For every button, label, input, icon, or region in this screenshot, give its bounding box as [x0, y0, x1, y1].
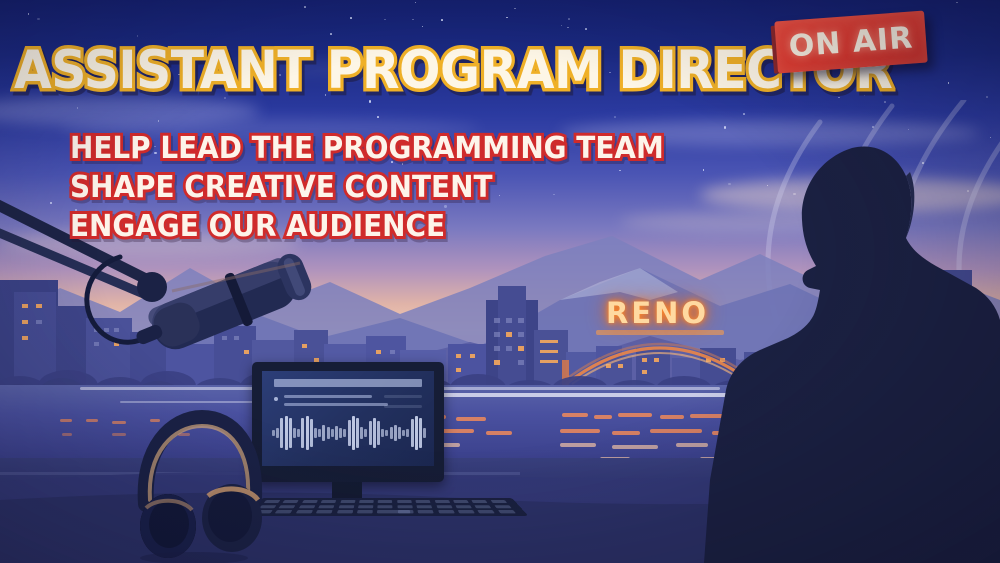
waveform-bar: [411, 419, 414, 447]
waveform-bar: [297, 429, 300, 437]
waveform-bar: [289, 418, 292, 448]
keyboard-key[interactable]: [436, 505, 452, 508]
headphones: [128, 400, 268, 563]
track-row[interactable]: [284, 403, 388, 406]
star: [585, 28, 587, 30]
star: [330, 33, 332, 35]
waveform-bar: [314, 428, 317, 438]
star: [37, 18, 39, 20]
waveform-bar: [406, 429, 409, 437]
subtitle-line-2: SHAPE CREATIVE CONTENT: [70, 172, 664, 204]
waveform-bar: [377, 421, 380, 445]
keyboard-body[interactable]: [246, 498, 529, 516]
waveform-bar: [402, 430, 405, 436]
keyboard-key[interactable]: [358, 505, 373, 508]
waveform-bar: [285, 416, 288, 450]
keyboard-key[interactable]: [498, 510, 516, 513]
star: [377, 116, 379, 118]
waveform-bar: [348, 420, 351, 446]
keyboard[interactable]: [262, 492, 512, 534]
person-silhouette: [700, 120, 1000, 563]
keyboard-key[interactable]: [475, 505, 492, 508]
waveform-bar: [339, 428, 342, 438]
star: [441, 19, 443, 21]
star: [506, 17, 508, 19]
waveform-bar: [419, 418, 422, 448]
keyboard-key[interactable]: [378, 505, 393, 508]
keyboard-key[interactable]: [283, 500, 299, 503]
keyboard-key[interactable]: [357, 510, 373, 513]
waveform-bar: [306, 416, 309, 450]
star: [137, 35, 139, 37]
app-toolbar[interactable]: [274, 379, 422, 387]
keyboard-key[interactable]: [478, 510, 496, 513]
keyboard-key[interactable]: [398, 510, 414, 513]
waveform-bar: [280, 418, 283, 448]
star: [28, 13, 30, 15]
keyboard-key[interactable]: [455, 505, 471, 508]
record-indicator: [274, 397, 278, 401]
keyboard-key[interactable]: [359, 500, 374, 503]
keyboard-key[interactable]: [302, 500, 318, 503]
star: [304, 6, 306, 8]
star: [415, 2, 417, 4]
waveform-bar: [318, 429, 321, 437]
waveform-bar: [373, 418, 376, 448]
keyboard-key[interactable]: [417, 505, 433, 508]
keyboard-key[interactable]: [453, 500, 469, 503]
star: [948, 82, 950, 84]
waveform-bar: [423, 428, 426, 438]
keyboard-key[interactable]: [316, 510, 333, 513]
keyboard-key[interactable]: [299, 505, 316, 508]
keyboard-key[interactable]: [378, 500, 393, 503]
keyboard-key[interactable]: [490, 500, 507, 503]
keyboard-key[interactable]: [275, 510, 293, 513]
waveform-bar: [301, 418, 304, 448]
subtitle-line-3: ENGAGE OUR AUDIENCE: [70, 211, 664, 243]
star: [514, 8, 516, 10]
waveform-bar: [335, 426, 338, 440]
star: [561, 25, 563, 27]
keyboard-key[interactable]: [321, 500, 337, 503]
waveform-bar: [331, 429, 334, 437]
star: [956, 2, 958, 4]
keyboard-key[interactable]: [438, 510, 455, 513]
keyboard-key[interactable]: [458, 510, 475, 513]
waveform-bar: [398, 427, 401, 439]
waveform-bar: [385, 430, 388, 436]
keyboard-key[interactable]: [279, 505, 296, 508]
keyboard-key[interactable]: [416, 500, 431, 503]
keyboard-key[interactable]: [418, 510, 434, 513]
waveform-bar: [369, 421, 372, 445]
waveform-bar: [360, 427, 363, 439]
waveform-bar: [327, 427, 330, 439]
waveform-bar: [352, 416, 355, 450]
reno-sign-text: RENO: [606, 296, 709, 330]
monitor-screen[interactable]: [262, 371, 434, 466]
keyboard-key[interactable]: [494, 505, 511, 508]
star: [422, 26, 424, 28]
waveform-bar: [276, 428, 279, 438]
star: [350, 17, 352, 19]
waveform-bar: [364, 429, 367, 437]
keyboard-key[interactable]: [336, 510, 352, 513]
star: [986, 96, 988, 98]
keyboard-key[interactable]: [397, 500, 412, 503]
on-air-sign: ON AIR: [774, 11, 927, 74]
keyboard-key[interactable]: [472, 500, 488, 503]
star: [568, 18, 570, 20]
subtitle-list: HELP LEAD THE PROGRAMMING TEAM SHAPE CRE…: [70, 133, 708, 243]
waveform-bar: [310, 419, 313, 447]
keyboard-key[interactable]: [338, 505, 354, 508]
waveform-bar: [415, 416, 418, 450]
track-row[interactable]: [284, 395, 372, 398]
star: [567, 27, 569, 29]
monitor-bezel: [252, 362, 444, 482]
panel-row: [384, 395, 422, 398]
keyboard-key[interactable]: [296, 510, 313, 513]
waveform-bar: [356, 418, 359, 448]
keyboard-key[interactable]: [434, 500, 449, 503]
keyboard-key[interactable]: [319, 505, 335, 508]
page-title: ASSISTANT PROGRAM DIRECTOR: [14, 44, 892, 97]
keyboard-key[interactable]: [340, 500, 355, 503]
waveform-bar: [381, 429, 384, 437]
waveform-bar: [272, 430, 275, 436]
waveform-bar: [343, 429, 346, 437]
waveform-bar: [293, 428, 296, 438]
job-poster: RENO: [0, 0, 1000, 563]
waveform-bar: [394, 425, 397, 441]
waveform-bar: [322, 425, 325, 441]
star: [412, 19, 414, 21]
waveform-bar: [390, 427, 393, 439]
panel-row: [384, 405, 422, 408]
keyboard-key[interactable]: [397, 505, 412, 508]
on-air-label: ON AIR: [774, 11, 927, 74]
subtitle-line-1: HELP LEAD THE PROGRAMMING TEAM: [70, 133, 664, 165]
star: [384, 19, 386, 21]
